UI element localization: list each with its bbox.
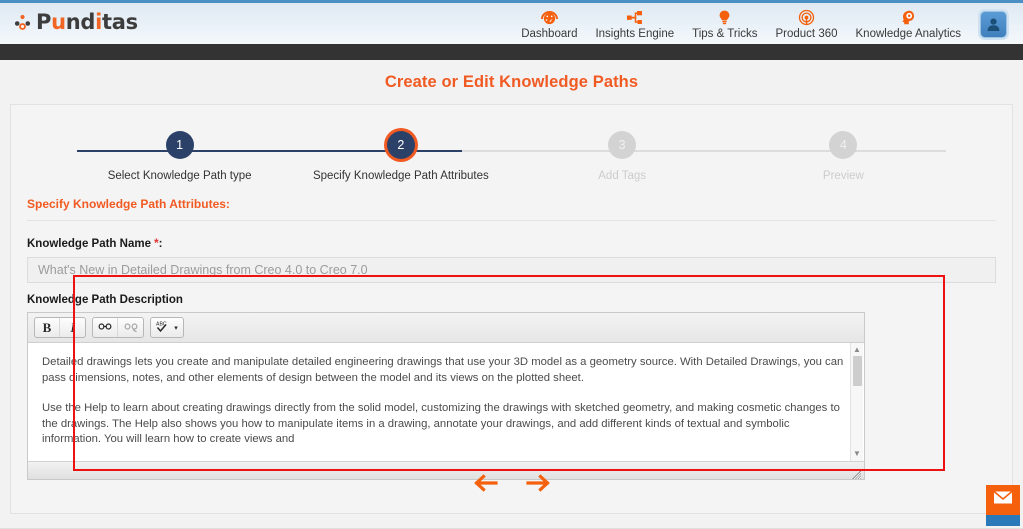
- stepper-step-1[interactable]: 1 Select Knowledge Path type: [69, 131, 290, 182]
- next-step-button[interactable]: [523, 471, 553, 495]
- dark-divider-bar: [0, 44, 1023, 60]
- nav-label-tips-tricks: Tips & Tricks: [692, 28, 757, 41]
- content-panel: 1 Select Knowledge Path type 2 Specify K…: [10, 104, 1013, 514]
- description-editor-wrap: Knowledge Path Description B I: [27, 294, 996, 480]
- name-label-text: Knowledge Path Name: [27, 238, 151, 250]
- nav-item-dashboard[interactable]: Dashboard: [512, 5, 586, 44]
- nav-item-product-360[interactable]: Product 360: [767, 5, 847, 44]
- knowledge-path-description-label: Knowledge Path Description: [27, 294, 996, 306]
- brand-u: u: [51, 10, 66, 34]
- brand-nd: nd: [66, 10, 95, 34]
- text-style-group: B I: [34, 317, 86, 338]
- spellcheck-caret-icon[interactable]: ▾: [174, 324, 178, 332]
- nav-label-knowledge-analytics: Knowledge Analytics: [856, 28, 961, 41]
- form-section-title: Specify Knowledge Path Attributes:: [27, 193, 996, 221]
- avatar[interactable]: [970, 11, 1015, 44]
- link-icon: [98, 321, 112, 335]
- stepper-circle-4[interactable]: 4: [829, 131, 857, 159]
- lightbulb-icon: [715, 8, 734, 27]
- brand-i: i: [95, 10, 102, 34]
- nav-label-insights-engine: Insights Engine: [595, 28, 674, 41]
- unlink-button: [118, 318, 143, 337]
- stepper-step-4[interactable]: 4 Preview: [733, 131, 954, 182]
- stepper-label-1: Select Knowledge Path type: [108, 170, 252, 182]
- scroll-up-icon[interactable]: ▲: [853, 343, 861, 357]
- broadcast-icon: [797, 8, 816, 27]
- page-title: Create or Edit Knowledge Paths: [0, 60, 1023, 104]
- unlink-icon: [124, 321, 138, 335]
- main-navigation: Dashboard Insights Engine: [512, 3, 1023, 44]
- contact-widget[interactable]: [986, 485, 1020, 526]
- spellcheck-icon: ABC: [156, 320, 173, 335]
- description-paragraph-2: Use the Help to learn about creating dra…: [42, 401, 847, 448]
- brand-logo[interactable]: Punditas: [0, 3, 138, 33]
- scroll-down-icon[interactable]: ▼: [853, 447, 861, 461]
- rich-text-editor: B I: [27, 312, 865, 480]
- brand-tas: tas: [102, 10, 138, 34]
- page-body: Create or Edit Knowledge Paths 1 Select …: [0, 60, 1023, 529]
- previous-step-button[interactable]: [471, 471, 501, 495]
- knowledge-path-name-input[interactable]: [27, 257, 996, 283]
- stepper-circle-1[interactable]: 1: [166, 131, 194, 159]
- stepper-circle-3[interactable]: 3: [608, 131, 636, 159]
- mail-button[interactable]: [986, 485, 1020, 515]
- stepper-label-3: Add Tags: [598, 170, 646, 182]
- nav-label-product-360: Product 360: [776, 28, 838, 41]
- name-label-colon: :: [159, 238, 163, 250]
- envelope-icon: [993, 490, 1013, 510]
- attributes-form: Specify Knowledge Path Attributes: Knowl…: [11, 193, 1012, 480]
- description-paragraph-1: Detailed drawings lets you create and ma…: [42, 355, 847, 386]
- stepper-label-2: Specify Knowledge Path Attributes: [313, 170, 489, 182]
- nav-item-insights-engine[interactable]: Insights Engine: [586, 5, 683, 44]
- stepper-step-3[interactable]: 3 Add Tags: [512, 131, 733, 182]
- stepper-label-4: Preview: [823, 170, 864, 182]
- nav-label-dashboard: Dashboard: [521, 28, 577, 41]
- arrow-right-icon: [523, 471, 553, 495]
- editor-toolbar: B I: [28, 313, 864, 343]
- spellcheck-group: ABC ▾: [150, 317, 184, 338]
- widget-blue-strip: [986, 515, 1020, 526]
- network-nodes-icon: [625, 8, 644, 27]
- scrollbar-thumb[interactable]: [853, 356, 862, 386]
- knowledge-path-name-label: Knowledge Path Name *:: [27, 238, 996, 250]
- stepper-step-2[interactable]: 2 Specify Knowledge Path Attributes: [290, 131, 511, 182]
- nav-item-tips-tricks[interactable]: Tips & Tricks: [683, 5, 766, 44]
- punditas-logo-icon: [14, 14, 31, 31]
- wizard-navigation: [11, 471, 1012, 495]
- arrow-left-icon: [471, 471, 501, 495]
- stepper-circle-2[interactable]: 2: [387, 131, 415, 159]
- app-header: Punditas Dashboard: [0, 3, 1023, 44]
- description-textarea[interactable]: Detailed drawings lets you create and ma…: [28, 343, 864, 461]
- link-group: [92, 317, 144, 338]
- speedometer-icon: [540, 8, 559, 27]
- spellcheck-button[interactable]: ABC ▾: [151, 318, 183, 337]
- head-gear-icon: [899, 8, 918, 27]
- italic-button[interactable]: I: [60, 318, 85, 337]
- brand-name: Punditas: [36, 12, 138, 33]
- user-avatar-icon[interactable]: [980, 11, 1007, 38]
- editor-scrollbar[interactable]: ▲ ▼: [850, 343, 863, 461]
- link-button[interactable]: [93, 318, 118, 337]
- brand-p: P: [36, 10, 51, 34]
- bold-button[interactable]: B: [35, 318, 60, 337]
- nav-item-knowledge-analytics[interactable]: Knowledge Analytics: [847, 5, 970, 44]
- stepper: 1 Select Knowledge Path type 2 Specify K…: [69, 131, 954, 187]
